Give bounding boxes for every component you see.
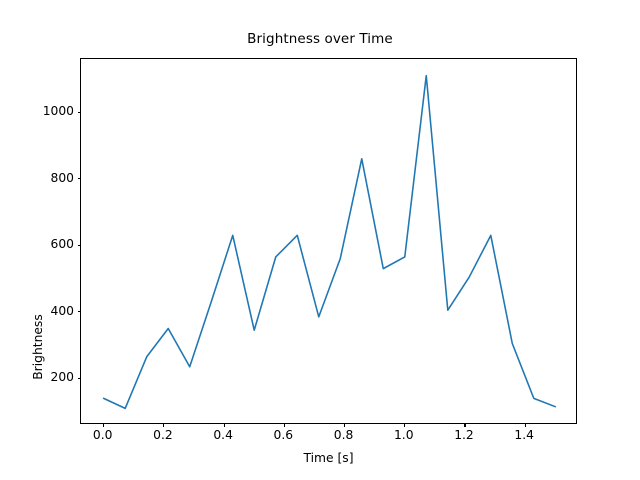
- x-tick-mark: [525, 423, 526, 427]
- x-tick-mark: [404, 423, 405, 427]
- x-tick-label: 1.4: [494, 428, 554, 442]
- x-tick-mark: [464, 423, 465, 427]
- x-tick-mark: [163, 423, 164, 427]
- x-tick-label: 0.8: [314, 428, 374, 442]
- chart-title: Brightness over Time: [0, 31, 640, 47]
- y-tick-label: 800: [6, 171, 74, 185]
- y-tick-label: 200: [6, 370, 74, 384]
- y-tick-mark: [78, 112, 82, 113]
- y-tick-label: 600: [6, 237, 74, 251]
- x-tick-label: 0.4: [193, 428, 253, 442]
- y-tick-mark: [78, 311, 82, 312]
- figure-canvas: Brightness over Time Brightness 20040060…: [0, 0, 640, 480]
- y-axis-label: Brightness: [31, 247, 45, 447]
- x-tick-label: 1.0: [374, 428, 434, 442]
- y-axis-label-wrapper: Brightness: [18, 150, 38, 250]
- y-tick-mark: [78, 178, 82, 179]
- plot-area: [80, 58, 577, 424]
- y-tick-mark: [78, 245, 82, 246]
- y-tick-mark: [78, 378, 82, 379]
- x-tick-mark: [103, 423, 104, 427]
- x-axis-label: Time [s]: [80, 451, 577, 465]
- x-tick-label: 0.6: [253, 428, 313, 442]
- x-tick-mark: [344, 423, 345, 427]
- x-tick-mark: [284, 423, 285, 427]
- x-tick-mark: [224, 423, 225, 427]
- series-brightness-line: [81, 59, 578, 425]
- x-tick-label: 0.2: [133, 428, 193, 442]
- x-tick-label: 1.2: [434, 428, 494, 442]
- x-tick-label: 0.0: [73, 428, 133, 442]
- y-tick-label: 1000: [6, 104, 74, 118]
- y-tick-label: 400: [6, 304, 74, 318]
